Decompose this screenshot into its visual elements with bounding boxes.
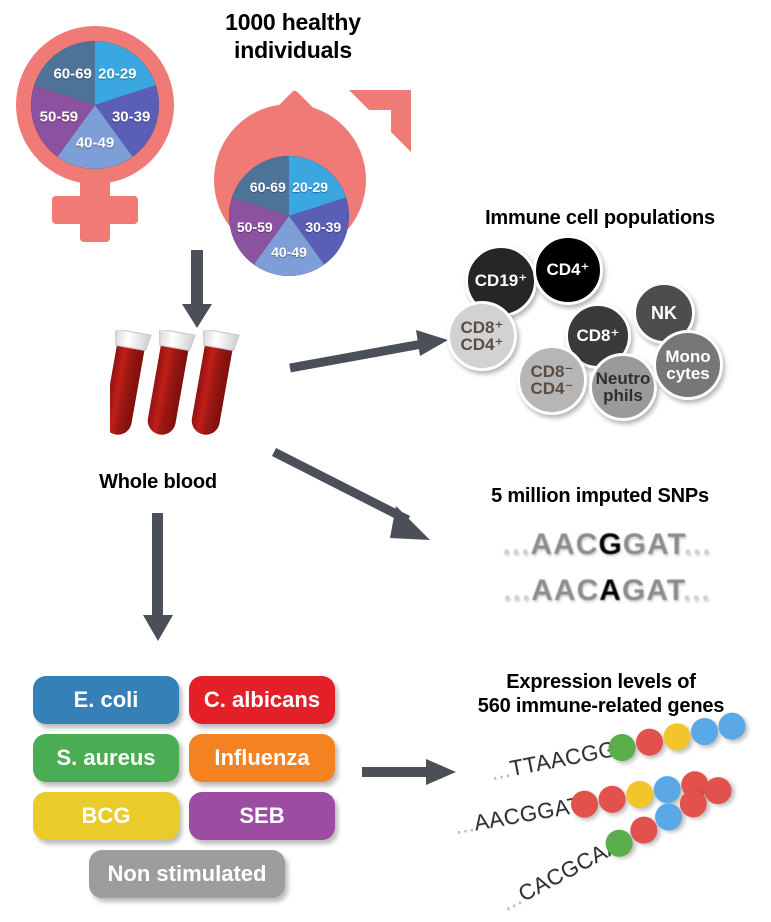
stimulus-e-coli[interactable]: E. coli [33,676,179,724]
page-title-cohort: 1000 healthy individuals [168,8,418,64]
stimulus-bcg[interactable]: BCG [33,792,179,840]
immune-cell-cd8negnegcd4neg: CD8⁻ CD4⁻ [517,345,587,415]
snp-prefix-bases: AAC [530,528,598,561]
snp-sequence-row-2: ...AACAGAT... [462,574,752,608]
snp-variant-base: A [599,574,622,607]
gene-strand-sequence-2: ...AACGGAT [453,792,584,840]
male-age-pie-chart: 20-2930-3940-4950-5960-69 [229,156,349,276]
snp-suffix-bases: GAT [623,528,684,561]
snp-trailing-dots: ... [684,528,712,561]
gene-bead [689,716,721,748]
stimulus-s-aureus[interactable]: S. aureus [33,734,179,782]
snp-leading-dots: ... [502,528,530,561]
stimulus-seb[interactable]: SEB [189,792,335,840]
figure-canvas: 1000 healthy individuals 20-2930-3940-49… [0,0,771,922]
pie-slice-label-30-39: 30-39 [305,219,341,235]
pie-slice-label-60-69: 60-69 [53,66,91,83]
pie-slice-label-20-29: 20-29 [98,66,136,83]
arrow-blood-to-stimuli [140,513,176,643]
snp-leading-dots: ... [503,574,531,607]
pie-slice-label-50-59: 50-59 [40,108,78,125]
snp-variant-base: G [598,528,622,561]
pie-slice-label-60-69: 60-69 [250,179,286,195]
arrow-blood-to-immune [288,330,450,376]
arrow-stimuli-to-genes [362,755,458,791]
snp-suffix-bases: GAT [622,574,683,607]
pie-slice-label-40-49: 40-49 [271,244,307,260]
gene-expression-illustration: ...TTAACGG...AACGGAT...CACGCAA [455,720,771,920]
arrow-blood-to-snps [272,448,444,548]
immune-cell-cluster: CD19⁺CD4⁺CD8⁺ CD4⁺CD8⁺NKCD8⁻ CD4⁻Neutro … [455,235,760,425]
gene-strand-sequence-1: ...TTAACGG [489,736,619,786]
snp-sequence-row-1: ...AACGGAT... [462,528,752,562]
gene-bead [661,721,693,753]
gene-bead [634,726,666,758]
female-age-pie-chart: 20-2930-3940-4950-5960-69 [31,41,159,169]
gene-bead [624,779,655,810]
snp-trailing-dots: ... [683,574,711,607]
whole-blood-label: Whole blood [48,470,268,494]
immune-cell-mononegcytes: Mono cytes [653,330,723,400]
section-title-immune-cells: Immune cell populations [440,206,760,230]
stimulus-non-stimulated[interactable]: Non stimulated [89,850,285,898]
gene-bead [716,710,748,742]
pie-slice-label-30-39: 30-39 [112,108,150,125]
blood-tubes-illustration [110,330,250,460]
snp-sequence-illustration: ...AACGGAT......AACAGAT... [462,528,752,618]
stimuli-panel: E. coliC. albicansS. aureusInfluenzaBCGS… [33,676,343,906]
pie-slice-label-50-59: 50-59 [237,219,273,235]
gene-bead [596,784,627,815]
immune-cell-cd4pos: CD4⁺ [533,235,603,305]
stimulus-influenza[interactable]: Influenza [189,734,335,782]
immune-cell-neutronegphils: Neutro phils [589,353,657,421]
pie-slice-label-20-29: 20-29 [292,179,328,195]
immune-cell-cd8posnegcd4pos: CD8⁺ CD4⁺ [447,301,517,371]
section-title-snps: 5 million imputed SNPs [440,484,760,508]
stimulus-c-albicans[interactable]: C. albicans [189,676,335,724]
snp-prefix-bases: AAC [531,574,599,607]
arrow-cohort-to-blood [180,250,214,330]
pie-slice-label-40-49: 40-49 [76,135,114,152]
